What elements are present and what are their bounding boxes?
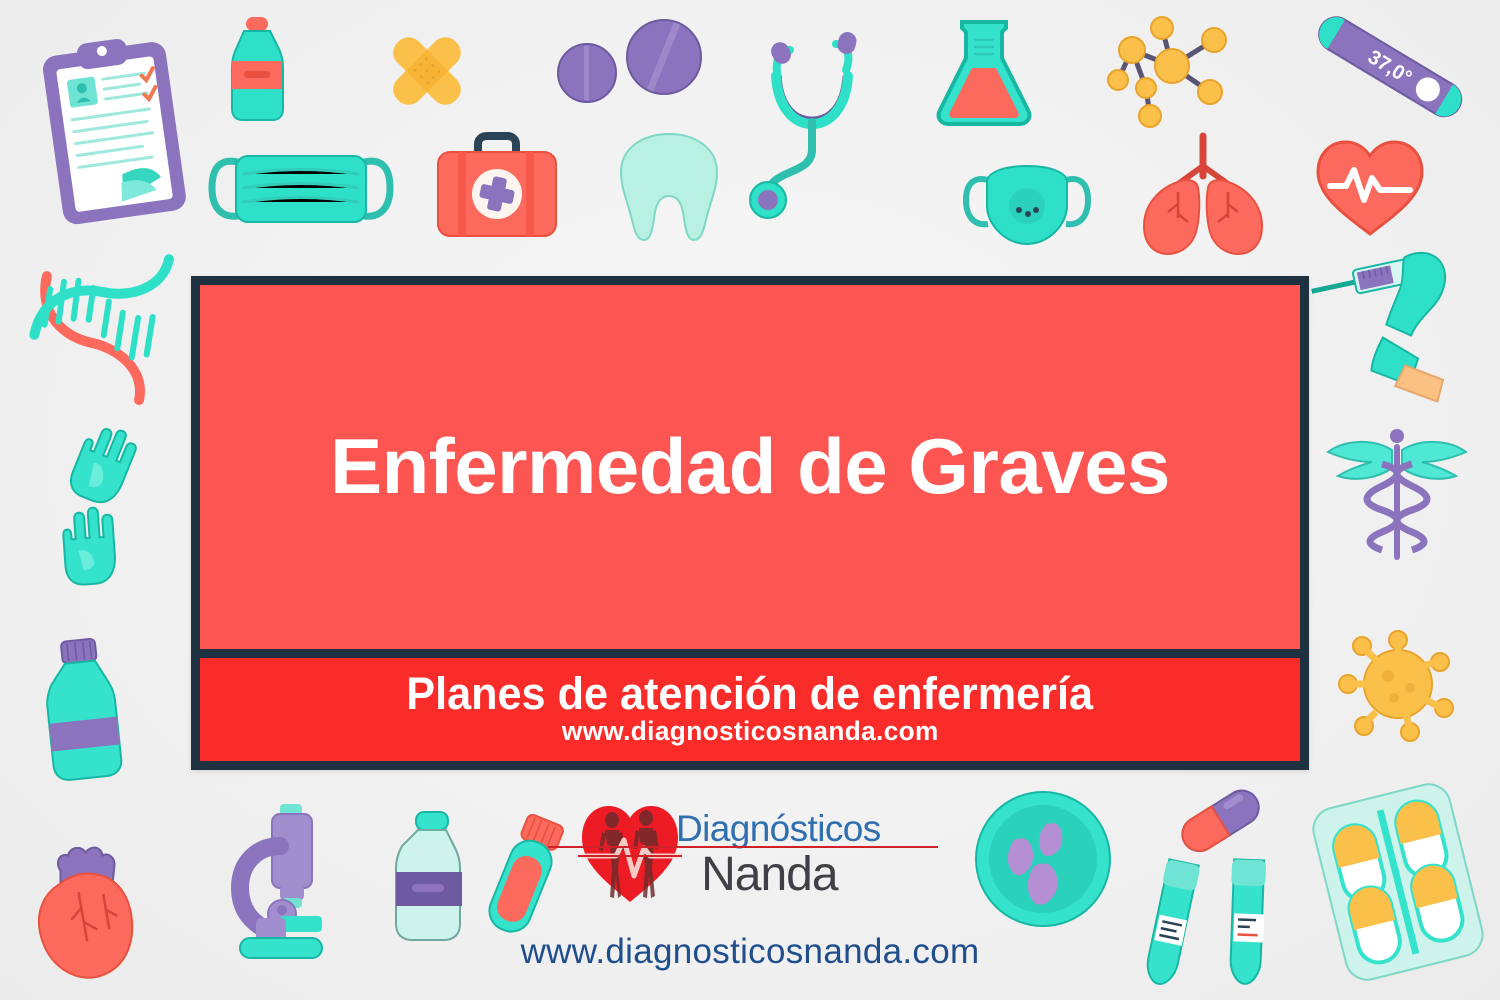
medicine-bottle-icon — [222, 15, 292, 125]
virus-icon — [1338, 626, 1458, 744]
erlenmeyer-flask-icon — [934, 14, 1034, 132]
logo-underline — [548, 846, 938, 848]
surgical-mask-icon — [208, 140, 394, 240]
panel-divider — [200, 649, 1300, 658]
bandaid-icon — [382, 26, 472, 116]
logo-word-nanda: Nanda — [676, 851, 881, 899]
page-title: Enfermedad de Graves — [330, 427, 1170, 507]
subtitle-panel: Planes de atención de enfermería www.dia… — [200, 658, 1300, 761]
brand-logo[interactable]: Diagnósticos Nanda — [578, 798, 938, 910]
thermometer-icon: 37,0° — [1305, 14, 1475, 124]
lungs-icon — [1138, 130, 1268, 258]
heart-pulse-icon — [1314, 138, 1426, 238]
subtitle: Planes de atención de enfermería — [407, 671, 1094, 716]
dna-icon — [24, 270, 174, 378]
poster-canvas: 37,0° — [0, 0, 1500, 1000]
tooth-icon — [615, 128, 723, 246]
dropper-bottle-icon — [40, 636, 128, 786]
glove-icon — [58, 418, 148, 510]
heart-figures-logo-icon — [578, 798, 682, 906]
glove-icon-2 — [46, 498, 134, 590]
capsule-icon — [1174, 782, 1266, 858]
molecule-icon — [1110, 14, 1240, 134]
caduceus-icon — [1322, 418, 1472, 568]
pill-tablet-large-icon — [625, 18, 703, 96]
stethoscope-icon — [748, 18, 888, 228]
logo-word-diagnosticos: Diagnósticos — [676, 810, 881, 847]
syringe-hand-icon — [1318, 242, 1478, 402]
title-banner: Enfermedad de Graves Planes de atención … — [191, 276, 1309, 770]
banner-url: www.diagnosticosnanda.com — [562, 718, 939, 745]
pill-tablet-small-icon — [556, 42, 618, 104]
footer-url[interactable]: www.diagnosticosnanda.com — [0, 932, 1500, 972]
title-panel: Enfermedad de Graves — [200, 285, 1300, 649]
vial-bottle-icon — [386, 808, 478, 948]
respirator-mask-icon — [962, 158, 1092, 254]
blood-sample-icon — [484, 812, 566, 938]
first-aid-kit-icon — [430, 130, 564, 240]
petri-dish-icon — [972, 788, 1114, 930]
clipboard-icon — [40, 30, 190, 230]
